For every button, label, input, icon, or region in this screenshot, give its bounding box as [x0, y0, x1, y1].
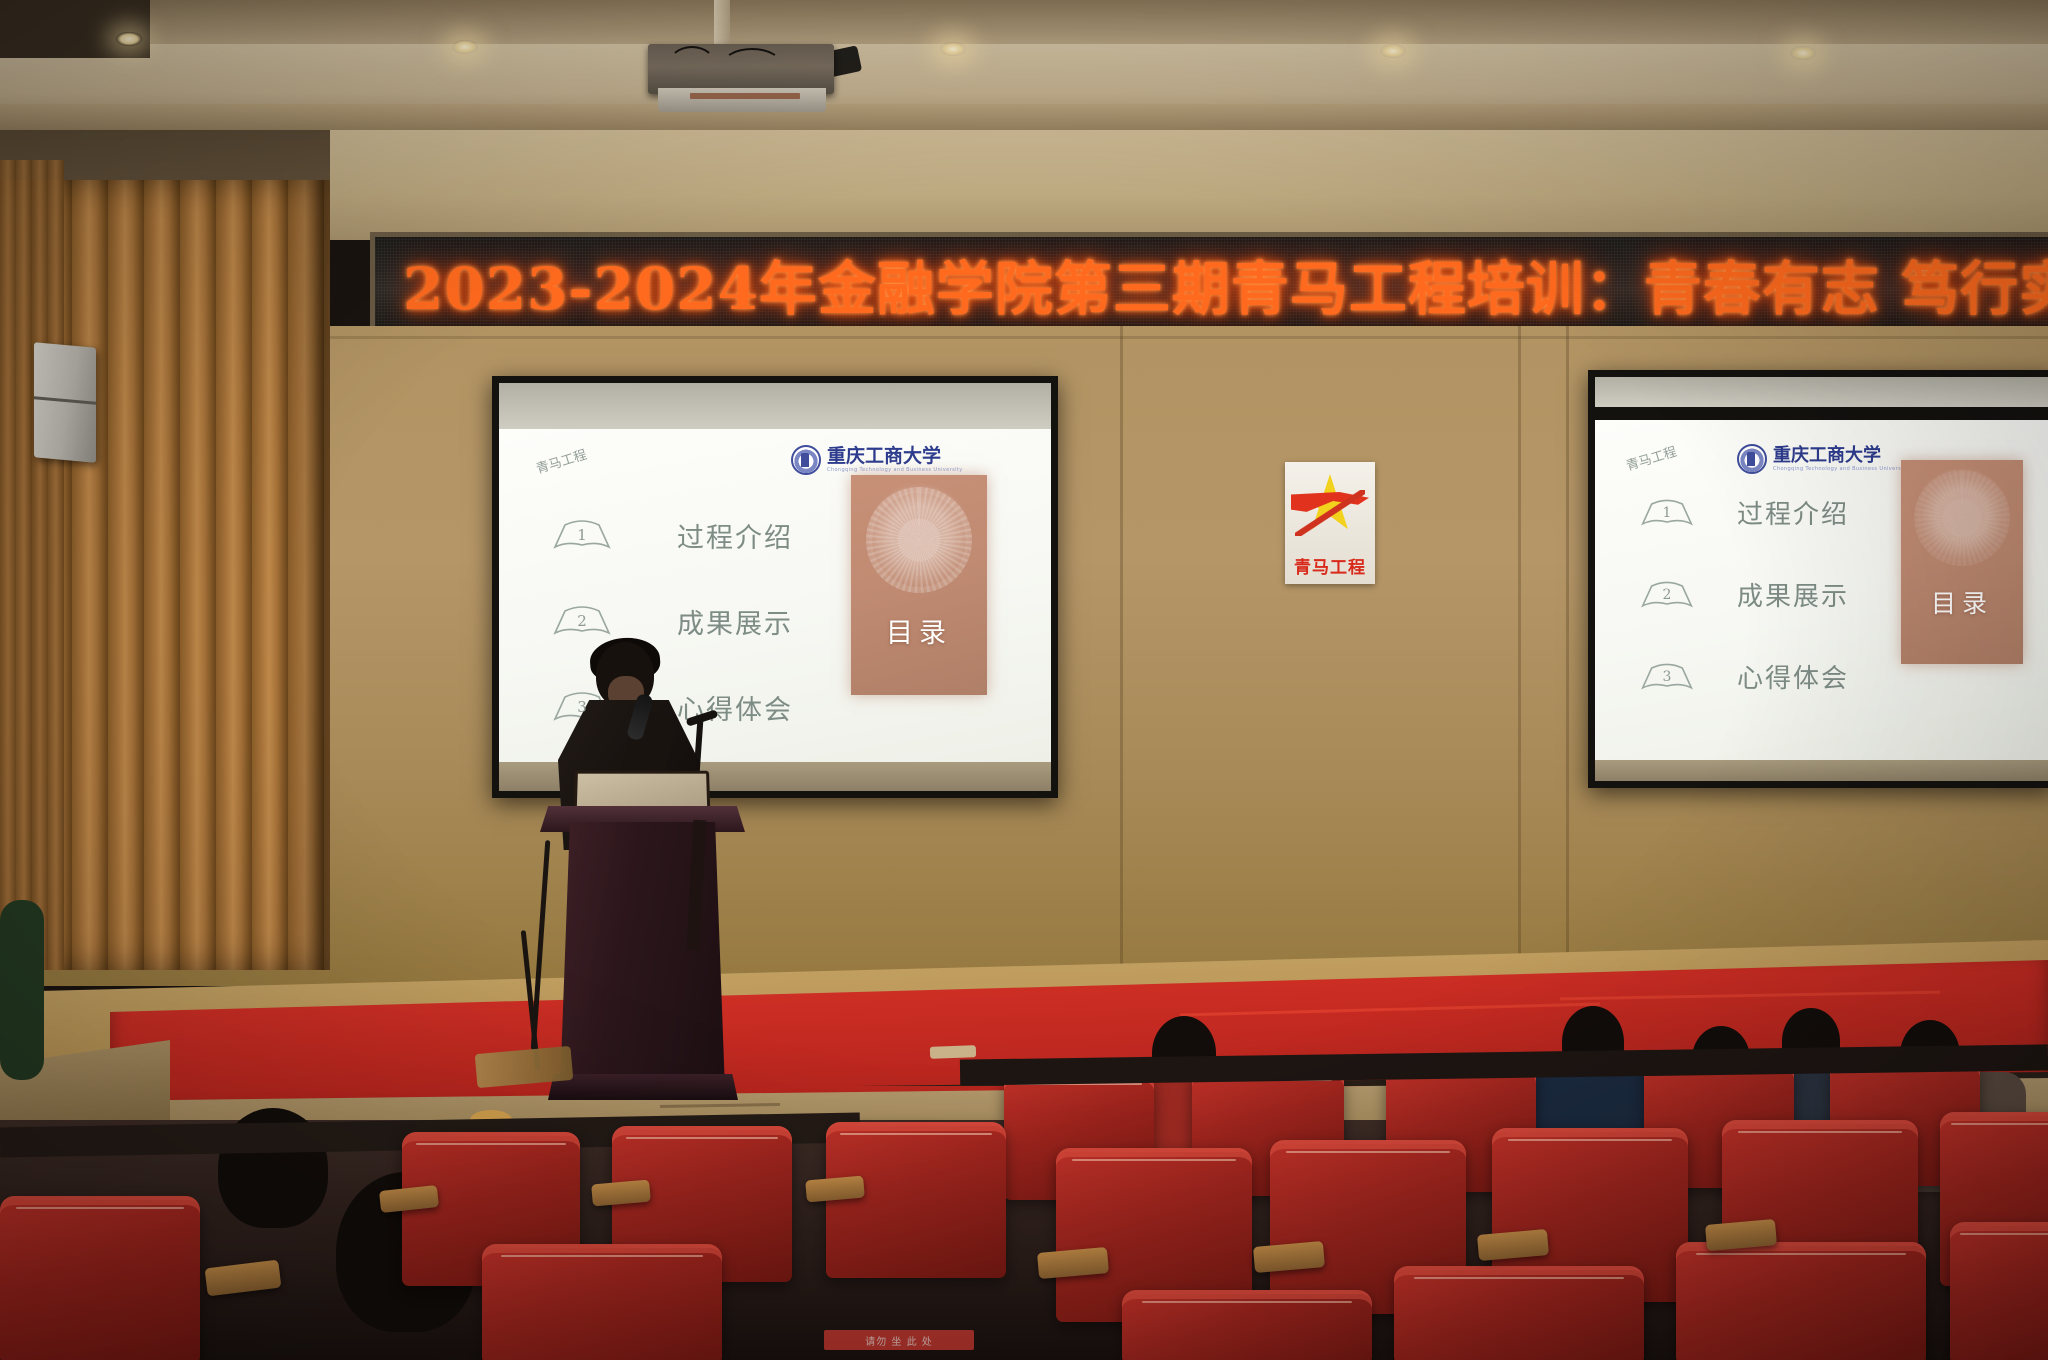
auditorium-photo: 2023-2024年金融学院第三期青马工程培训：青春有志 笃行实践 青马工程 重…: [0, 0, 2048, 1360]
toc-card-right: 目录: [1901, 460, 2023, 664]
podium-base: [548, 1074, 738, 1100]
projector-lens-housing: [658, 88, 826, 112]
toc-number-left: 1: [577, 526, 587, 544]
qingma-plaque-text: 青马工程: [1285, 553, 1375, 578]
auditorium-seat[interactable]: [1676, 1242, 1926, 1360]
university-subtitle-right: Chongqing Technology and Business Univer…: [1773, 467, 1909, 472]
university-name-left: 重庆工商大学: [827, 447, 963, 466]
slash-icon: [1295, 490, 1365, 536]
toc-card-left: 目录: [851, 475, 987, 695]
toc-row-1-left: 1 过程介绍: [551, 515, 793, 555]
university-emblem-icon: [1737, 444, 1767, 474]
auditorium-seat[interactable]: [0, 1196, 200, 1360]
screen-top-strip: [499, 383, 1051, 429]
stage-debris: [930, 1045, 976, 1059]
led-banner-text: 2023-2024年金融学院第三期青马工程培训：青春有志 笃行实践: [375, 242, 2048, 326]
projector-brand-label: [690, 93, 800, 99]
wall-loudspeaker: [34, 342, 96, 462]
audience-member-head: [0, 900, 44, 1080]
toc-row-2-right: 2 成果展示: [1639, 576, 1849, 613]
screen-top-strip: [1595, 377, 2048, 407]
projector-ceiling-mount: [714, 0, 730, 46]
medallion-pattern-icon: [1914, 470, 2010, 566]
fluted-wood-wall-edge: [0, 160, 64, 970]
fan-number-icon: 3: [1639, 659, 1695, 695]
toc-number-right: 3: [1663, 669, 1672, 685]
auditorium-seat[interactable]: [482, 1244, 722, 1360]
toc-row-3-right: 3 心得体会: [1639, 658, 1849, 695]
toc-card-title-left: 目录: [851, 611, 987, 650]
toc-number-right: 1: [1663, 505, 1672, 521]
slide-left: 青马工程 重庆工商大学 Chongqing Technology and Bus…: [499, 429, 1051, 762]
toc-row-1-right: 1 过程介绍: [1639, 494, 1849, 531]
ceiling-dark-recess: [0, 0, 150, 58]
toc-label-left: 成果展示: [677, 602, 793, 641]
auditorium-seat[interactable]: [1122, 1290, 1372, 1360]
ceiling-downlight: [940, 42, 966, 56]
led-banner-screen: 2023-2024年金融学院第三期青马工程培训：青春有志 笃行实践: [375, 237, 2048, 333]
toc-number-right: 2: [1663, 587, 1672, 603]
projector-cable: [722, 48, 782, 82]
fan-number-icon: 2: [551, 601, 613, 641]
auditorium-seat[interactable]: [1950, 1222, 2048, 1360]
university-logo-left: 重庆工商大学 Chongqing Technology and Business…: [791, 445, 963, 475]
ceiling-downlight: [1790, 46, 1816, 60]
toc-label-left: 过程介绍: [677, 516, 793, 555]
qingma-engineering-plaque: 青马工程: [1285, 462, 1375, 584]
ceiling-downlight: [116, 32, 142, 46]
ceiling-back-band: [0, 0, 2048, 44]
slide-scribble-right: 青马工程: [1623, 441, 1678, 474]
slide-scribble-left: 青马工程: [533, 444, 588, 477]
university-logo-right: 重庆工商大学 Chongqing Technology and Business…: [1737, 444, 1909, 474]
projector-cable: [668, 46, 716, 84]
toc-number-left: 2: [577, 612, 587, 630]
wall-panel-joint: [1518, 326, 1521, 986]
fan-number-icon: 1: [1639, 495, 1695, 531]
university-emblem-icon: [791, 445, 821, 475]
fan-number-icon: 2: [1639, 577, 1695, 613]
led-banner-frame: 2023-2024年金融学院第三期青马工程培训：青春有志 笃行实践: [370, 232, 2048, 338]
toc-label-right: 过程介绍: [1737, 494, 1849, 531]
university-subtitle-left: Chongqing Technology and Business Univer…: [827, 468, 963, 473]
toc-label-right: 心得体会: [1737, 658, 1849, 695]
toc-card-title-right: 目录: [1901, 584, 2023, 620]
toc-row-2-left: 2 成果展示: [551, 601, 793, 641]
slide-right: 青马工程 重庆工商大学 Chongqing Technology and Bus…: [1595, 420, 2048, 760]
floor-warning-sign: 请勿 坐 此 处: [824, 1330, 974, 1350]
screen-bottom-strip: [1595, 760, 2048, 781]
auditorium-seat[interactable]: [1394, 1266, 1644, 1360]
wall-panel-joint: [1566, 326, 1569, 986]
wall-panel-joint: [1120, 326, 1123, 986]
projection-screen-right: 青马工程 重庆工商大学 Chongqing Technology and Bus…: [1588, 370, 2048, 788]
auditorium-seat[interactable]: [826, 1122, 1006, 1278]
toc-label-right: 成果展示: [1737, 576, 1849, 613]
floor-sign-text: 请勿 坐 此 处: [865, 1333, 933, 1348]
toc-number-left: 3: [577, 698, 587, 716]
ceiling-downlight: [452, 40, 478, 54]
medallion-pattern-icon: [866, 487, 972, 593]
university-name-right: 重庆工商大学: [1773, 447, 1909, 465]
fan-number-icon: 1: [551, 515, 613, 555]
ceiling-downlight: [1380, 44, 1406, 58]
